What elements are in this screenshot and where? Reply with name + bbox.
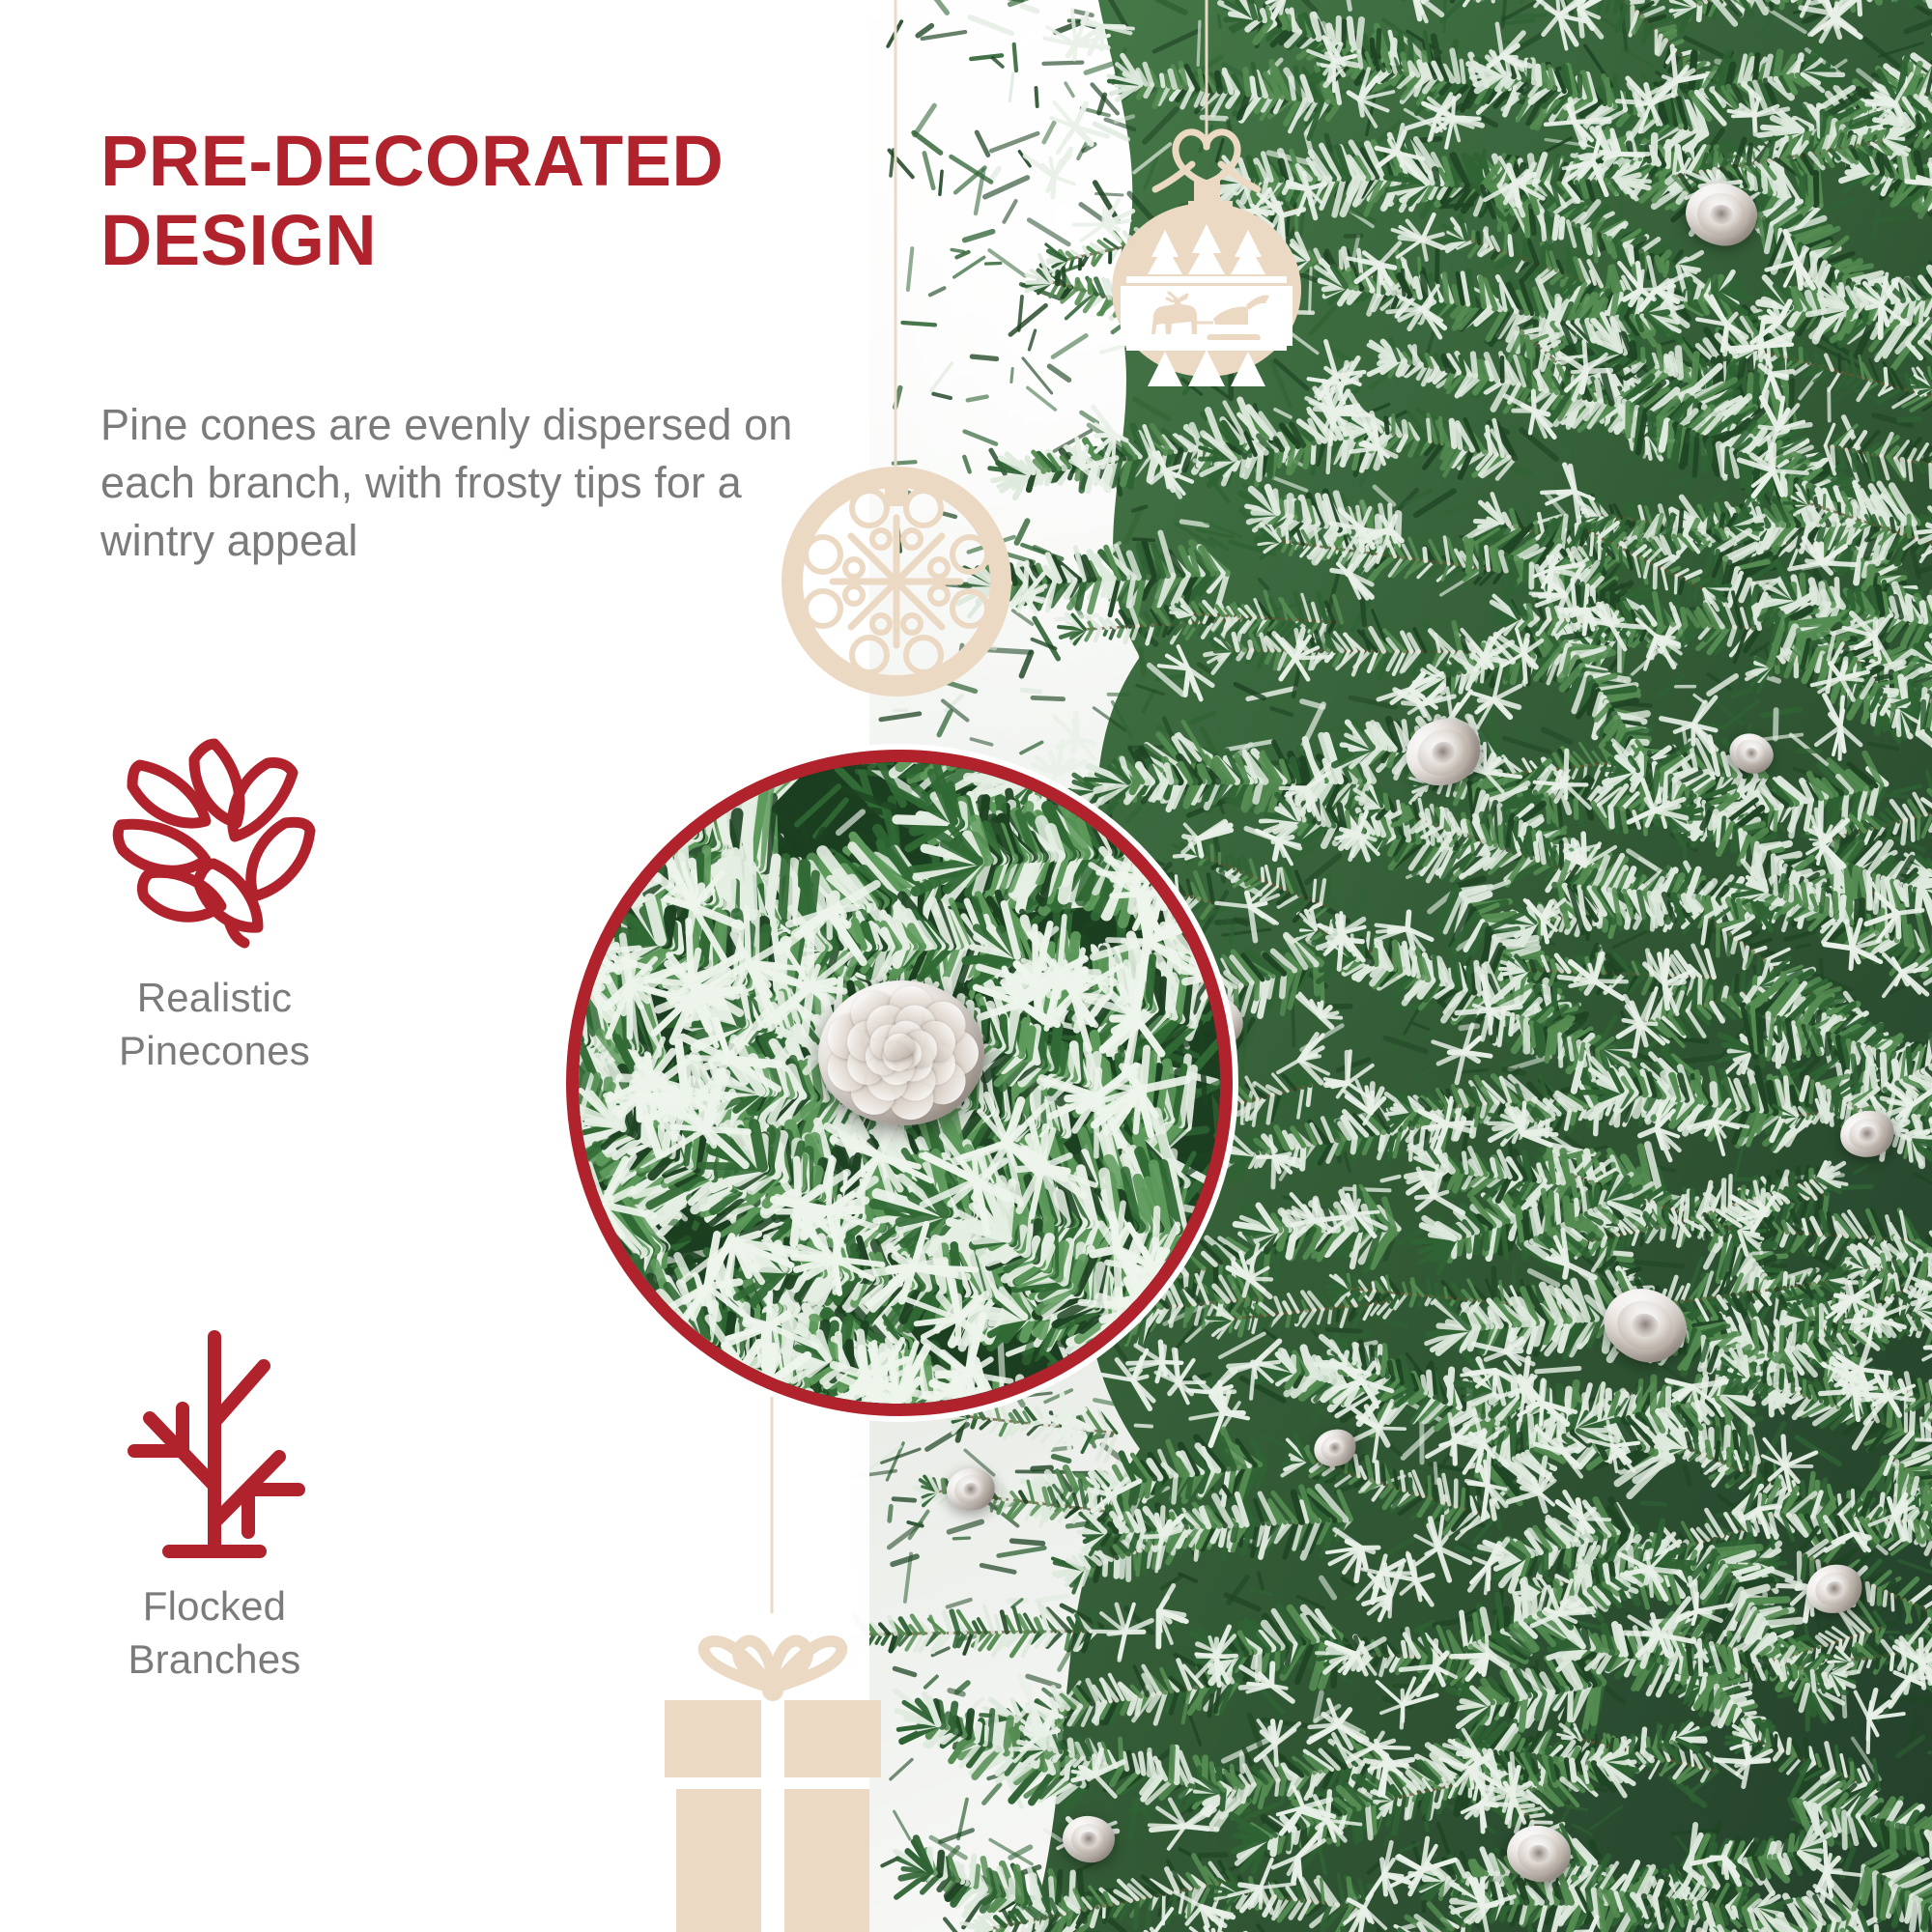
bare-branch-tree-icon bbox=[94, 1323, 335, 1565]
pinecone-icon-container bbox=[89, 715, 340, 956]
gift-box-ornament bbox=[638, 1536, 908, 1932]
christmas-bauble-reindeer-sleigh-ornament bbox=[1092, 0, 1323, 386]
pinecone-icon bbox=[94, 723, 335, 950]
callout-photo bbox=[579, 762, 1220, 1404]
feature-flocked-branches: Flocked Branches bbox=[21, 1323, 408, 1686]
feature-label: Flocked Branches bbox=[21, 1580, 408, 1686]
branch-icon-container bbox=[89, 1323, 340, 1565]
ornament-thread bbox=[895, 0, 897, 493]
pinecone-closeup-circle-inset bbox=[566, 750, 1233, 1416]
page-title: PRE-DECORATED DESIGN bbox=[100, 122, 796, 280]
hero-pinecone bbox=[818, 980, 984, 1125]
marketing-image-canvas: PRE-DECORATED DESIGN Pine cones are even… bbox=[0, 0, 1932, 1932]
ornament-thread bbox=[1206, 0, 1208, 147]
feature-label: Realistic Pinecones bbox=[21, 972, 408, 1077]
feature-realistic-pinecones: Realistic Pinecones bbox=[21, 715, 408, 1077]
description-text: Pine cones are evenly dispersed on each … bbox=[100, 396, 815, 570]
